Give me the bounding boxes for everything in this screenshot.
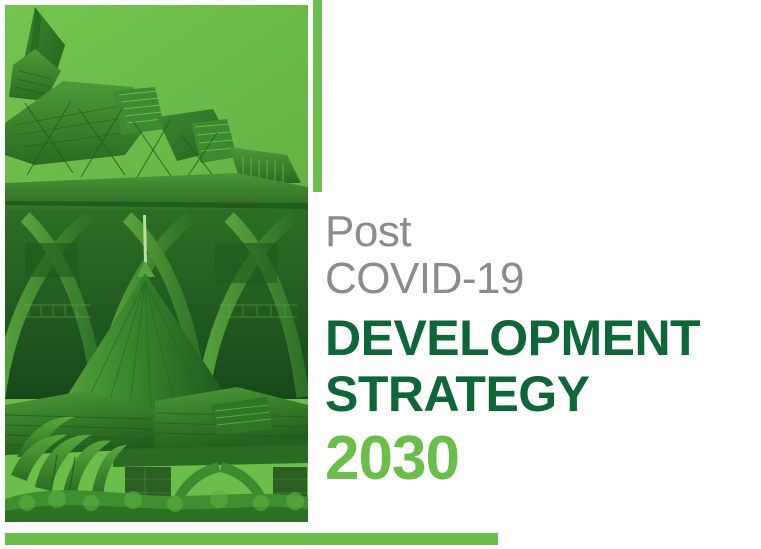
- title-line-year: 2030: [325, 428, 745, 490]
- vertical-accent-bar: [313, 0, 322, 192]
- cover-title-block: Post COVID-19 DEVELOPMENT STRATEGY 2030: [325, 210, 745, 490]
- report-cover: Post COVID-19 DEVELOPMENT STRATEGY 2030: [0, 0, 761, 549]
- title-line-covid: COVID-19: [325, 257, 745, 302]
- title-line-strategy: STRATEGY: [325, 368, 745, 420]
- title-line-development: DEVELOPMENT: [325, 312, 745, 364]
- cover-photo: [5, 5, 308, 522]
- title-line-post: Post: [325, 210, 745, 255]
- cover-photo-illustration: [5, 5, 308, 522]
- horizontal-accent-bar: [5, 533, 498, 545]
